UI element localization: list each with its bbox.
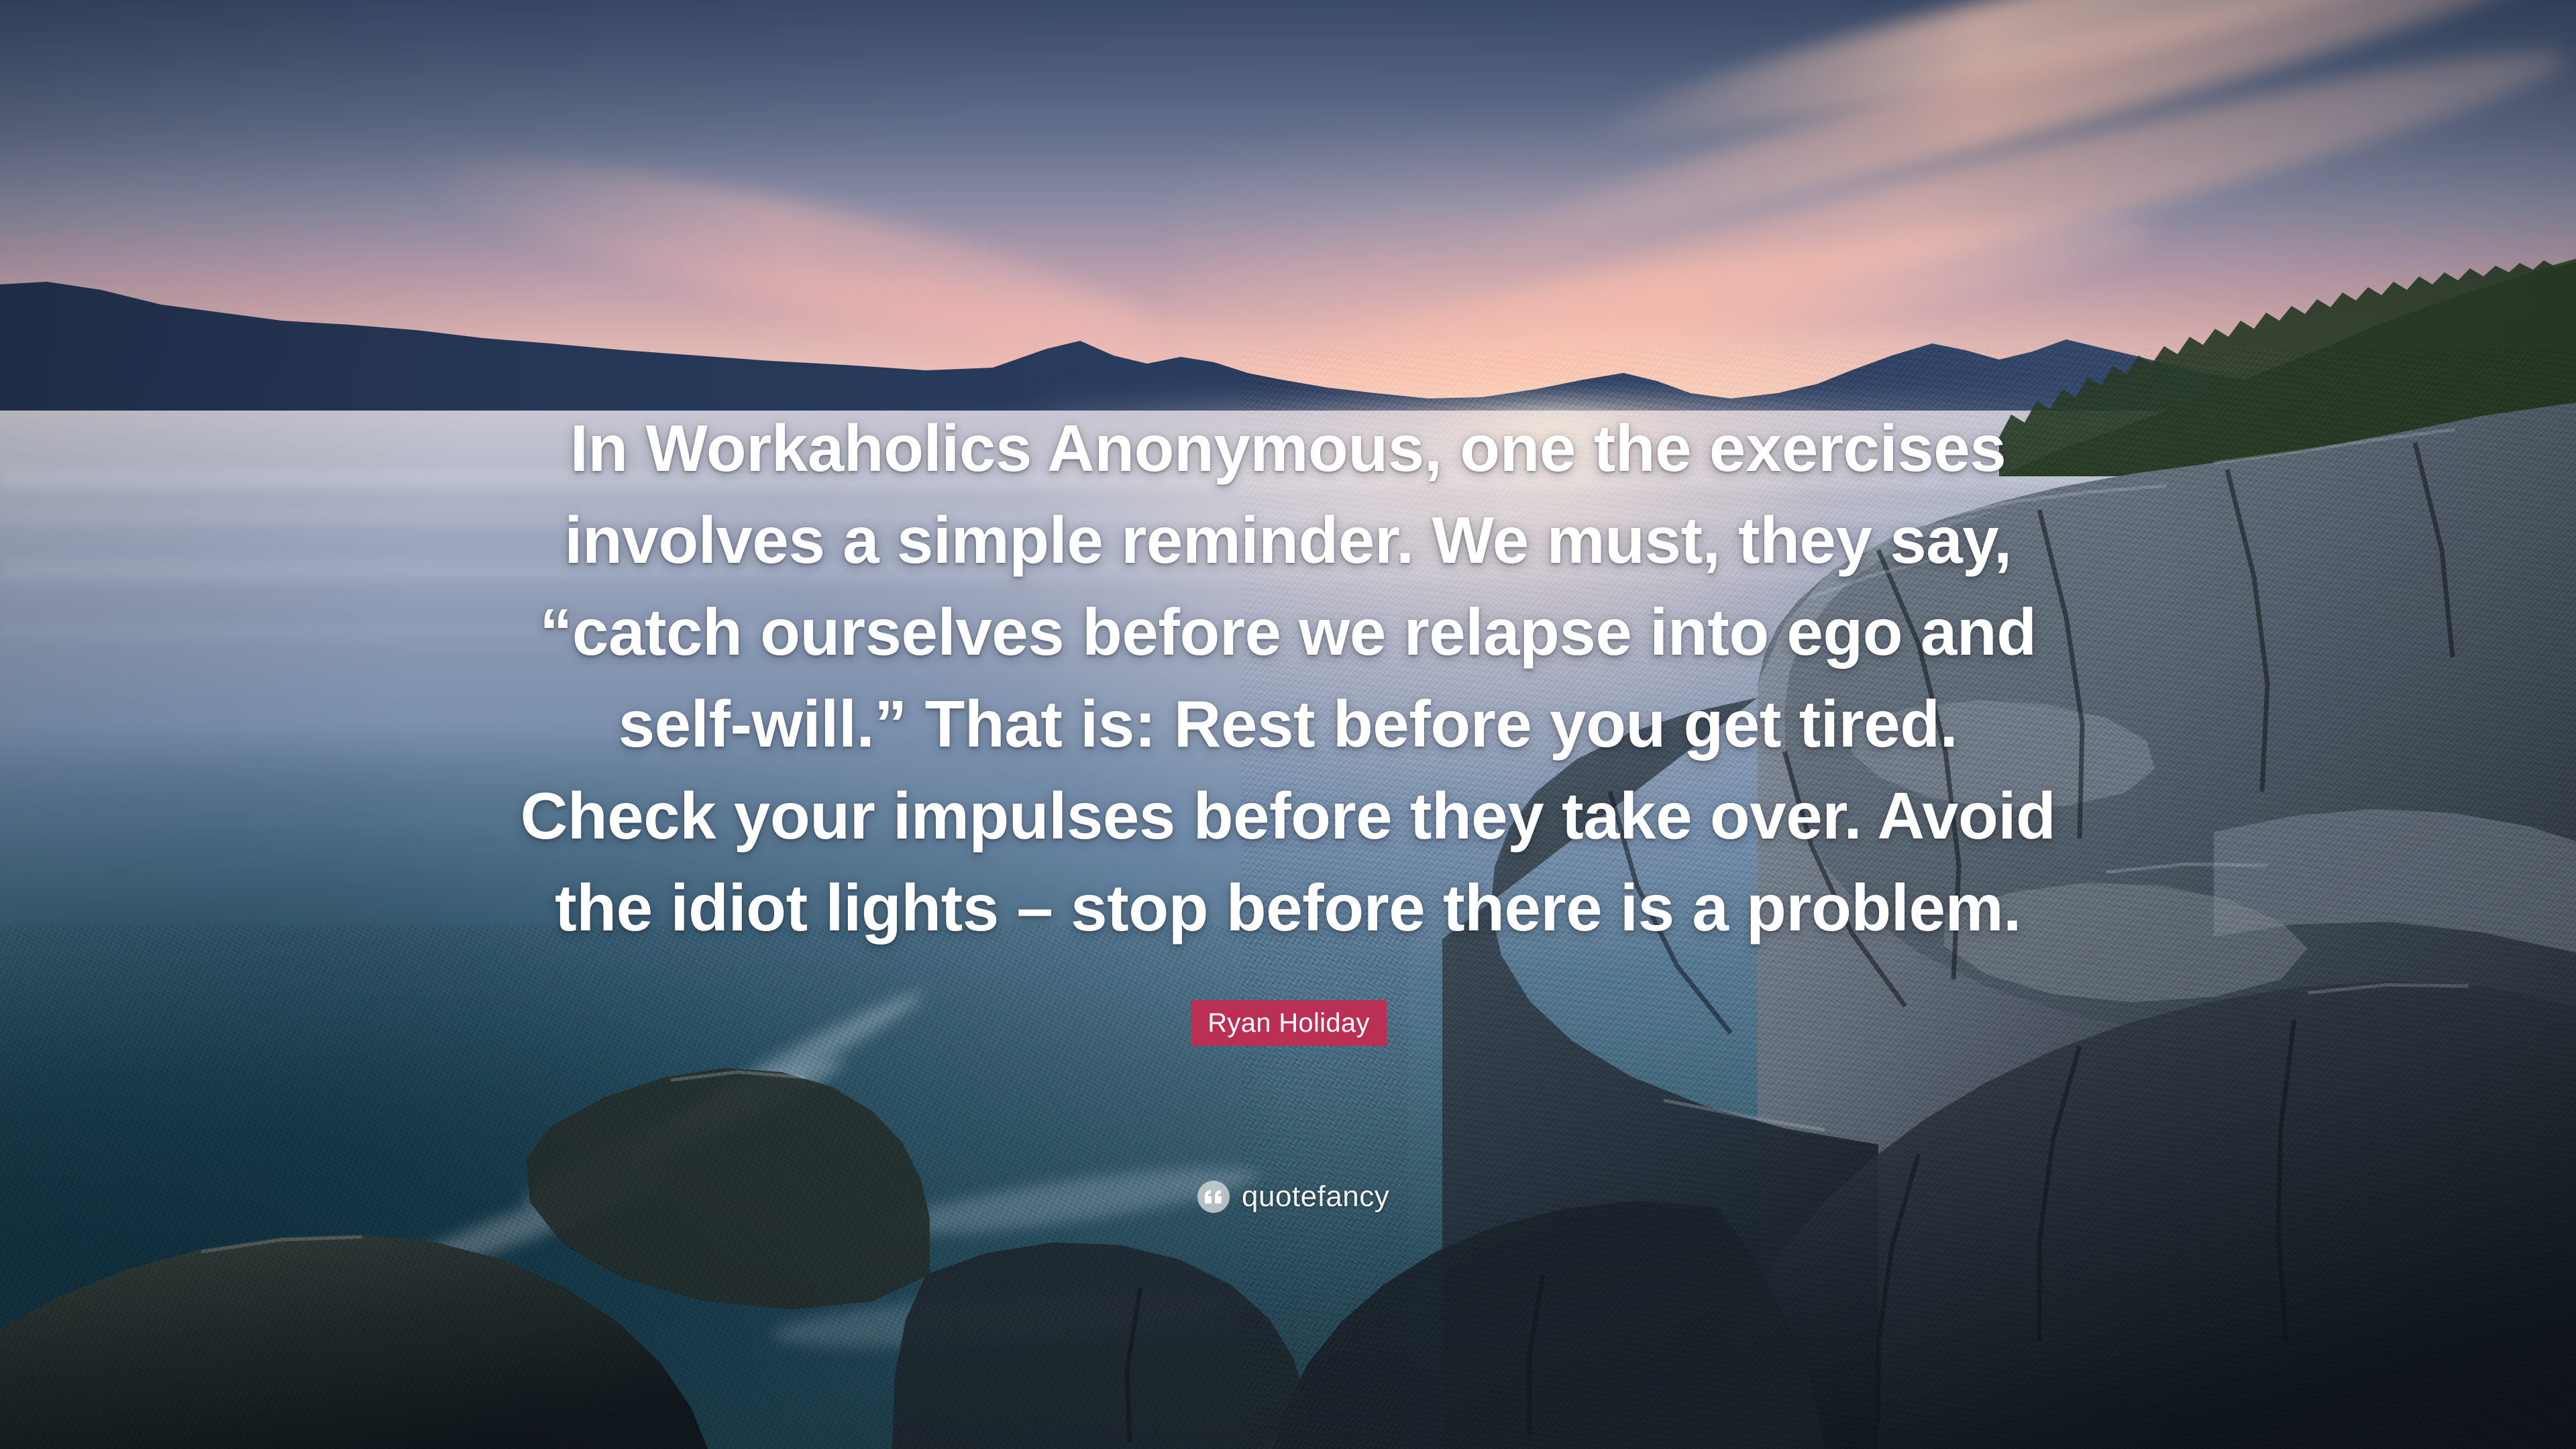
quotefancy-wordmark: quotefancy <box>1242 1180 1389 1214</box>
wallpaper-canvas: In Workaholics Anonymous, one the exerci… <box>0 0 2576 1449</box>
quote-mark-icon <box>1197 1181 1230 1213</box>
quote-overlay: In Workaholics Anonymous, one the exerci… <box>0 0 2576 1449</box>
quote-text-block: In Workaholics Anonymous, one the exerci… <box>449 402 2127 954</box>
quote-line: “catch ourselves before we relapse into … <box>449 586 2127 678</box>
quote-line: self-will.” That is: Rest before you get… <box>449 678 2127 770</box>
quote-line: involves a simple reminder. We must, the… <box>449 494 2127 586</box>
author-name: Ryan Holiday <box>1207 1008 1370 1038</box>
quotefancy-watermark[interactable]: quotefancy <box>1197 1179 1389 1214</box>
quote-line: In Workaholics Anonymous, one the exerci… <box>449 402 2127 494</box>
author-badge[interactable]: Ryan Holiday <box>1191 1000 1387 1046</box>
quote-line: Check your impulses before they take ove… <box>449 770 2127 862</box>
quote-line: the idiot lights – stop before there is … <box>449 862 2127 954</box>
